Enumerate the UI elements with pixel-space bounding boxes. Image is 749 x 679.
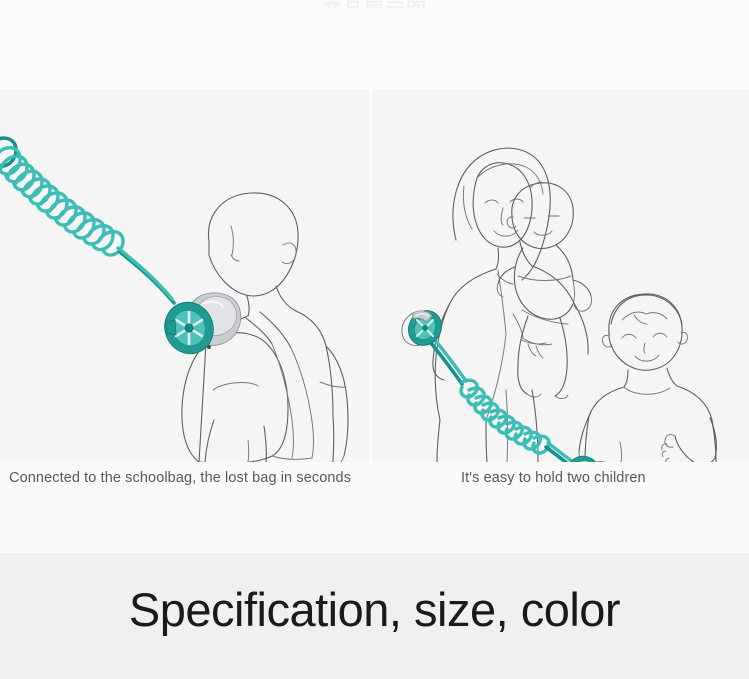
caption-left: Connected to the schoolbag, the lost bag… (9, 470, 351, 486)
older-child-standing (579, 294, 716, 462)
teal-gray-buckle-lock-device (157, 293, 241, 361)
child-with-backpack-illustration (0, 90, 370, 462)
coiled-teal-safety-rope (0, 138, 174, 303)
product-detail-page: 产品展示图 (0, 0, 749, 679)
mother-and-children-illustration (370, 90, 749, 462)
caption-right: It's easy to hold two children (461, 470, 646, 486)
illustration-panel-left (0, 90, 370, 462)
illustration-band (0, 90, 749, 462)
top-ghost-title: 产品展示图 (0, 0, 749, 8)
illustration-panel-right (370, 90, 749, 462)
captions-band: Connected to the schoolbag, the lost bag… (0, 462, 749, 553)
section-heading: Specification, size, color (0, 582, 749, 638)
top-strip: 产品展示图 (0, 0, 749, 90)
wrist-band-device-mother (402, 304, 448, 351)
baby-in-arms (497, 182, 592, 398)
panel-divider (370, 90, 372, 462)
heading-band: Specification, size, color (0, 553, 749, 679)
coiled-teal-wrist-link (430, 339, 578, 462)
